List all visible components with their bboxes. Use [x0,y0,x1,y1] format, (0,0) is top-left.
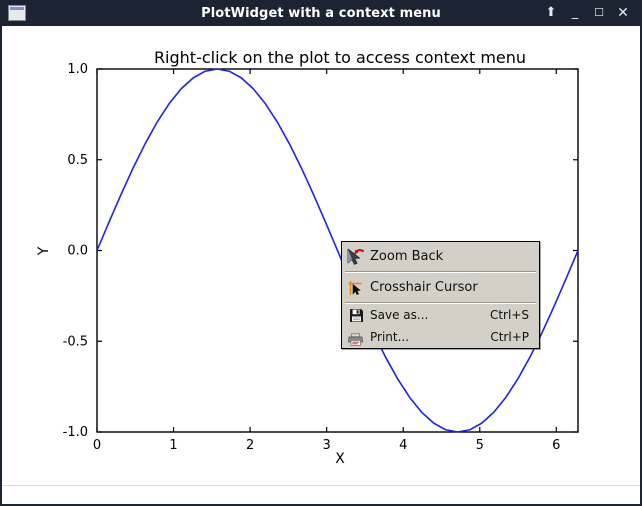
plot-widget[interactable]: Right-click on the plot to access contex… [2,26,640,484]
menu-item-print[interactable]: Print... Ctrl+P [342,326,539,348]
x-tick-label: 5 [476,438,484,453]
x-tick-label: 4 [399,438,407,453]
printer-icon [342,326,370,348]
menu-item-accel: Ctrl+P [490,330,539,344]
y-tick-label: -1.0 [63,425,88,440]
context-menu[interactable]: Zoom Back Crosshair [341,241,540,349]
shade-button[interactable]: ⬆ [540,0,562,26]
y-tick-label: -0.5 [63,334,88,349]
zoom-back-icon [342,242,370,271]
menu-item-label: Save as... [370,308,490,322]
y-axis-label: Y [36,246,52,256]
status-divider [2,485,640,486]
x-tick-label: 6 [552,438,560,453]
x-tick-label: 3 [323,438,331,453]
plot-svg[interactable]: Right-click on the plot to access contex… [2,26,640,484]
menu-item-label: Zoom Back [370,249,529,264]
menu-item-accel: Ctrl+S [490,308,539,322]
y-tick-label: 0.0 [67,244,88,259]
close-button[interactable]: ✕ [612,0,634,26]
y-tick-label: 1.0 [67,62,88,77]
menu-item-zoom-back[interactable]: Zoom Back [342,242,539,271]
title-bar[interactable]: PlotWidget with a context menu ⬆ _ ☐ ✕ [0,0,642,26]
menu-item-label: Print... [370,330,490,344]
client-area: Right-click on the plot to access contex… [2,26,640,504]
x-axis-label: X [335,451,345,467]
menu-item-crosshair-cursor[interactable]: Crosshair Cursor [342,273,539,302]
crosshair-cursor-icon [342,273,370,302]
maximize-button[interactable]: ☐ [588,0,610,26]
x-tick-label: 1 [169,438,177,453]
menu-item-save-as[interactable]: Save as... Ctrl+S [342,304,539,326]
floppy-disk-icon [342,304,370,326]
x-tick-label: 2 [246,438,254,453]
x-tick-label: 0 [93,438,101,453]
minimize-button[interactable]: _ [564,0,586,26]
y-tick-label: 0.5 [67,153,88,168]
plot-title: Right-click on the plot to access contex… [154,48,526,67]
menu-item-label: Crosshair Cursor [370,280,529,295]
application-window: PlotWidget with a context menu ⬆ _ ☐ ✕ R… [0,0,642,506]
